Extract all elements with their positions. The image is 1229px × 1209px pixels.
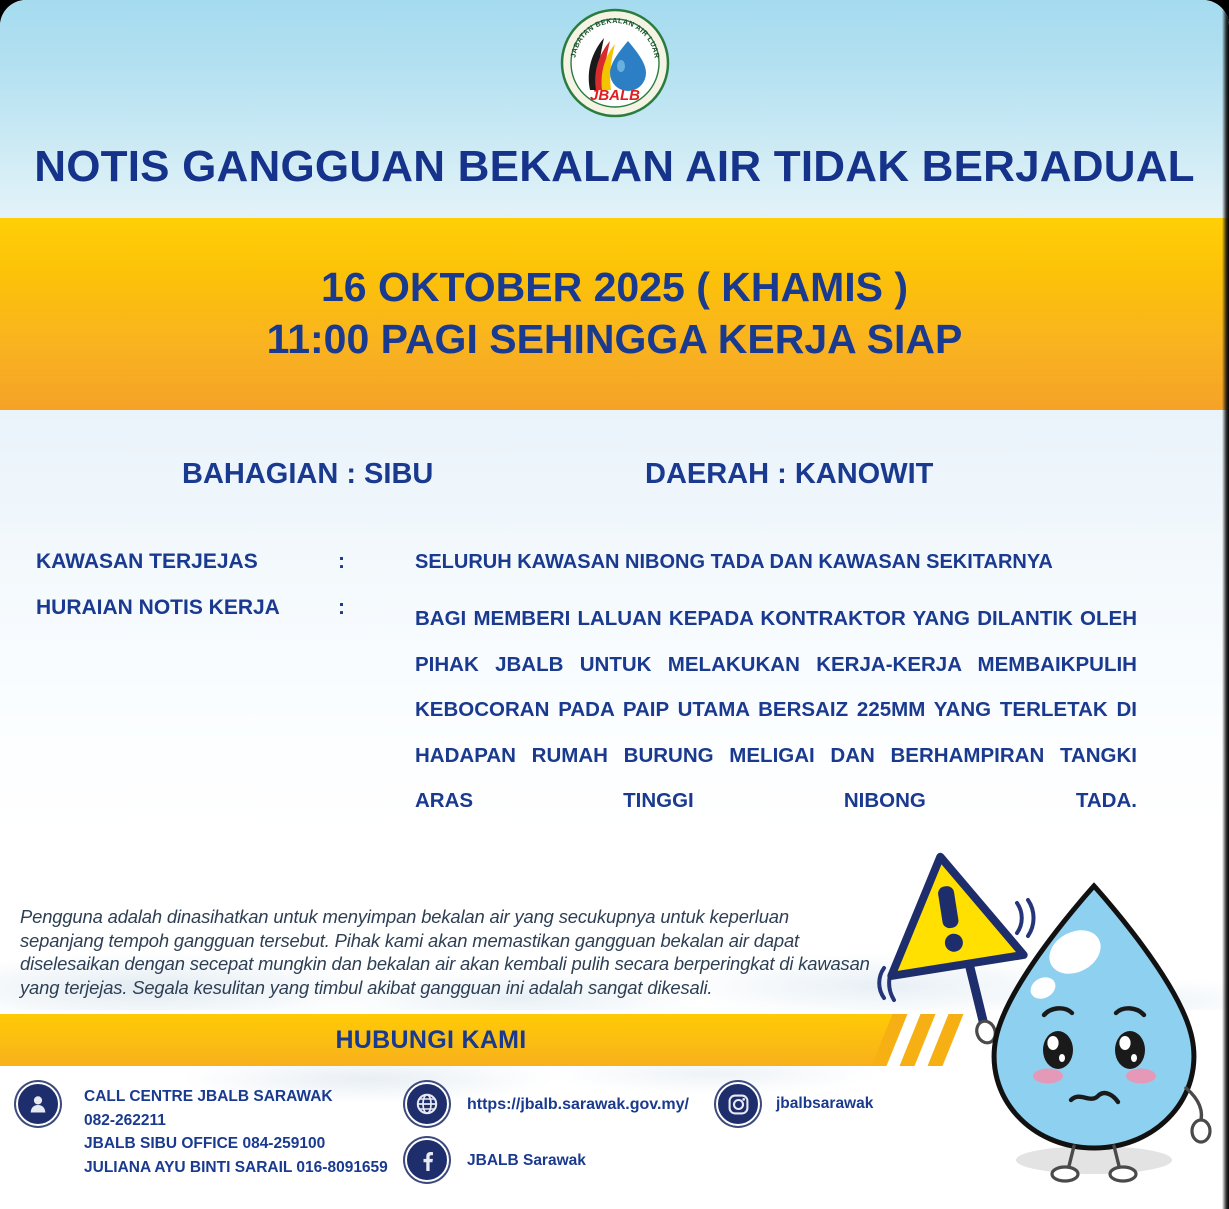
poster-right-edge (1222, 0, 1229, 1209)
work-description-value: BAGI MEMBERI LALUAN KEPADA KONTRAKTOR YA… (415, 596, 1137, 869)
contact-bar-title: HUBUNGI KAMI (0, 1014, 862, 1066)
date-line-2: 11:00 PAGI SEHINGGA KERJA SIAP (267, 317, 963, 363)
instagram-glyph (727, 1093, 750, 1116)
page-title: NOTIS GANGGUAN BEKALAN AIR TIDAK BERJADU… (0, 144, 1229, 190)
jbalb-logo-icon: JABATAN BEKALAN AIR LUAR BANDAR JBALB SA… (560, 8, 670, 118)
instagram-icon[interactable] (716, 1082, 760, 1126)
bahagian-value: BAHAGIAN : SIBU (182, 458, 433, 491)
svg-text:JBALB: JBALB (589, 87, 639, 104)
notice-poster: JABATAN BEKALAN AIR LUAR BANDAR JBALB SA… (0, 0, 1229, 1209)
globe-icon[interactable] (405, 1082, 449, 1126)
person-glyph (27, 1093, 49, 1115)
call-centre-text: CALL CENTRE JBALB SARAWAK 082-262211 JBA… (84, 1085, 388, 1179)
facebook-icon[interactable] (405, 1138, 449, 1182)
facebook-handle[interactable]: JBALB Sarawak (467, 1152, 586, 1170)
poster-header: JABATAN BEKALAN AIR LUAR BANDAR JBALB SA… (0, 0, 1229, 218)
facebook-glyph (416, 1149, 438, 1171)
date-banner: 16 OKTOBER 2025 ( KHAMIS ) 11:00 PAGI SE… (0, 218, 1229, 410)
globe-glyph (415, 1092, 439, 1116)
affected-area-label: KAWASAN TERJEJAS (36, 550, 258, 574)
person-icon[interactable] (16, 1082, 60, 1126)
disclaimer-text: Pengguna adalah dinasihatkan untuk menyi… (20, 905, 875, 999)
work-description-label: HURAIAN NOTIS KERJA (36, 596, 280, 620)
mascot-illustration (862, 848, 1229, 1188)
date-line-1: 16 OKTOBER 2025 ( KHAMIS ) (321, 265, 908, 311)
affected-area-colon: : (338, 550, 345, 574)
instagram-handle[interactable]: jbalbsarawak (776, 1095, 873, 1113)
affected-area-value: SELURUH KAWASAN NIBONG TADA DAN KAWASAN … (415, 550, 1137, 576)
jbalb-logo: JABATAN BEKALAN AIR LUAR BANDAR JBALB SA… (560, 8, 670, 118)
daerah-value: DAERAH : KANOWIT (645, 458, 933, 491)
work-description-colon: : (338, 596, 345, 620)
water-droplet-mascot (862, 848, 1229, 1188)
website-link[interactable]: https://jbalb.sarawak.gov.my/ (467, 1096, 689, 1114)
info-block: KAWASAN TERJEJAS : SELURUH KAWASAN NIBON… (0, 550, 1229, 596)
